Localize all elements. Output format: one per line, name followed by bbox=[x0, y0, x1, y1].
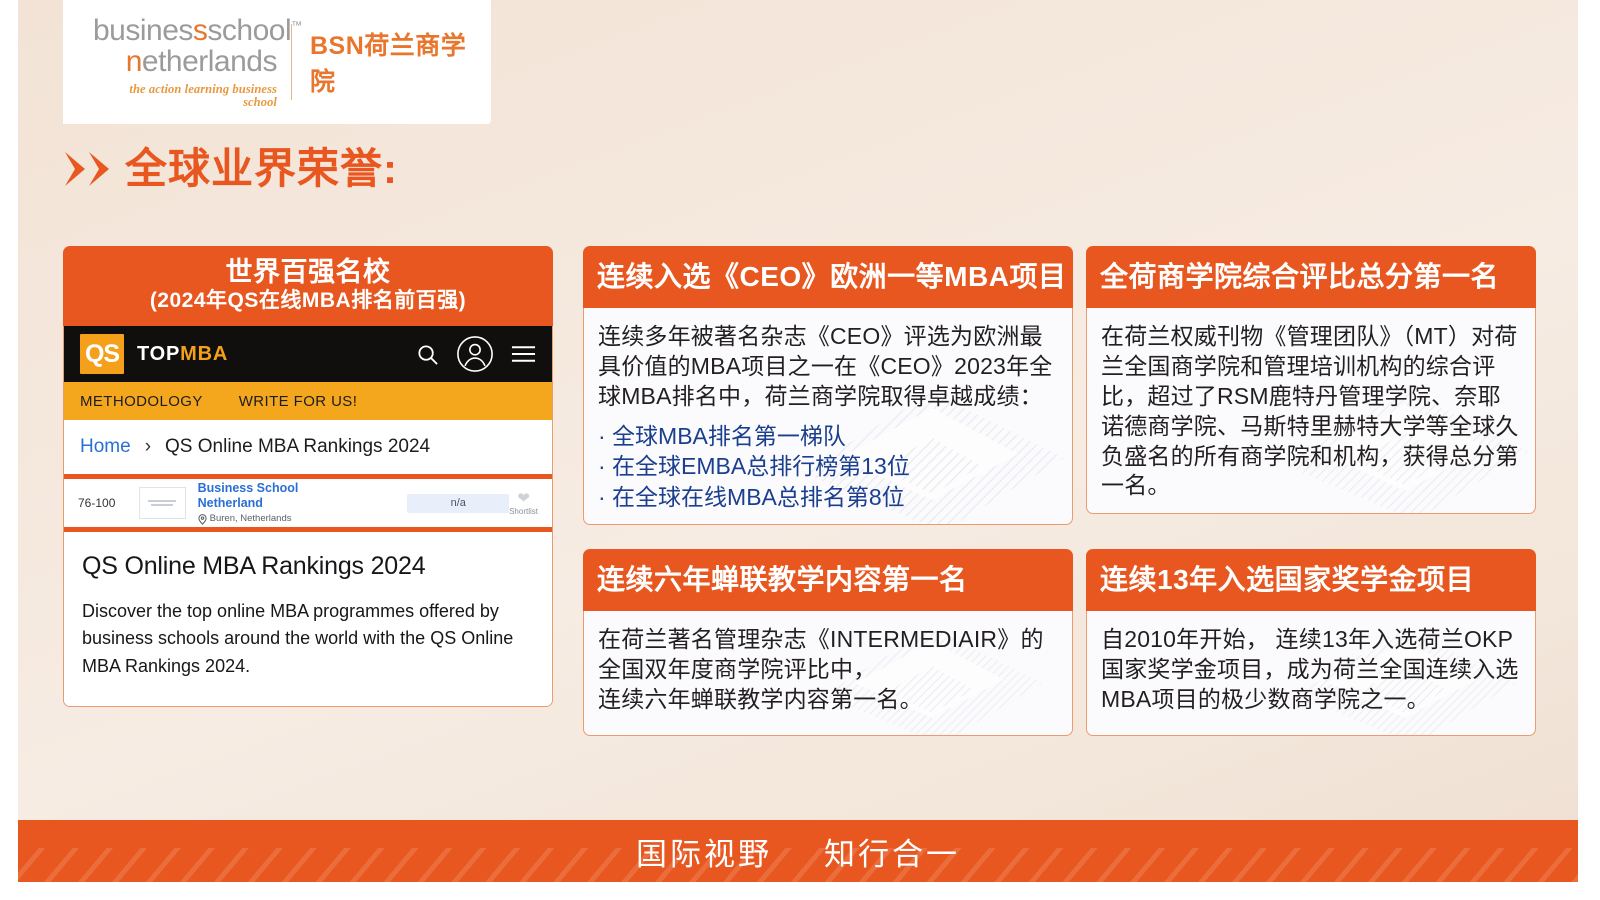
card-ceo-header: 连续入选《CEO》欧洲一等MBA项目 bbox=[583, 246, 1073, 308]
card-ceo-text: 连续多年被著名杂志《CEO》评选为欧洲最具价值的MBA项目之一在《CEO》202… bbox=[598, 322, 1058, 412]
shortlist-control[interactable]: ❤ Shortlist bbox=[509, 491, 538, 516]
university-logo-thumbnail bbox=[139, 487, 186, 519]
qs-wordmark: TOPMBA bbox=[137, 343, 228, 366]
score-value: n/a bbox=[407, 494, 509, 513]
card-ceo-award: 连续入选《CEO》欧洲一等MBA项目 连续多年被著名杂志《CEO》评选为欧洲最具… bbox=[583, 246, 1073, 525]
card-okp-title: 连续13年入选国家奖学金项目 bbox=[1100, 564, 1474, 596]
footer-slogan-1: 国际视野 bbox=[636, 829, 772, 874]
card-qs-title: 世界百强名校 bbox=[226, 257, 391, 288]
card-okp-body: 自2010年开始， 连续13年入选荷兰OKP国家奖学金项目，成为荷兰全国连续入选… bbox=[1086, 611, 1536, 736]
logo-text-busines: busines bbox=[93, 14, 193, 47]
card-qs-ranking: 世界百强名校 (2024年QS在线MBA排名前百强) QS TOPMBA bbox=[63, 246, 553, 707]
footer-slogan-2: 知行合一 bbox=[824, 829, 960, 874]
qs-nav-write-for-us[interactable]: WRITE FOR US! bbox=[239, 393, 358, 410]
qs-highlighted-ranking-row: 76-100 Business School Netherland Buren,… bbox=[64, 474, 552, 532]
card-qs-subtitle: (2024年QS在线MBA排名前百强) bbox=[150, 288, 466, 313]
breadcrumb: Home › QS Online MBA Rankings 2024 bbox=[64, 420, 552, 474]
qs-nav-methodology[interactable]: METHODOLOGY bbox=[80, 393, 203, 410]
card-mt-award: 全荷商学院综合评比总分第一名 在荷兰权威刊物《管理团队》（MT）对荷兰全国商学院… bbox=[1086, 246, 1536, 514]
card-okp-scholarship: 连续13年入选国家奖学金项目 自2010年开始， 连续13年入选荷兰OKP国家奖… bbox=[1086, 549, 1536, 736]
card-intermediair-body: 在荷兰著名管理杂志《INTERMEDIAIR》的全国双年度商学院评比中， 连续六… bbox=[583, 611, 1073, 736]
card-qs-header: 世界百强名校 (2024年QS在线MBA排名前百强) bbox=[63, 246, 553, 326]
logo-text-n-accent: n bbox=[126, 45, 142, 78]
slide-canvas: businessschool™ netherlands the action l… bbox=[18, 0, 1578, 882]
card-ceo-title: 连续入选《CEO》欧洲一等MBA项目 bbox=[597, 261, 1066, 293]
qs-website-screenshot: QS TOPMBA METHODOLOGY WRI bbox=[63, 326, 553, 707]
card-ceo-body: 连续多年被著名杂志《CEO》评选为欧洲最具价值的MBA项目之一在《CEO》202… bbox=[583, 308, 1073, 525]
card-intermediair-text: 在荷兰著名管理杂志《INTERMEDIAIR》的全国双年度商学院评比中， 连续六… bbox=[598, 625, 1058, 715]
card-mt-title: 全荷商学院综合评比总分第一名 bbox=[1100, 261, 1499, 293]
list-item: · 在全球EMBA总排行榜第13位 bbox=[598, 451, 1058, 482]
rank-value: 76-100 bbox=[78, 496, 139, 510]
card-ceo-bullet-list: · 全球MBA排名第一梯队 · 在全球EMBA总排行榜第13位 · 在全球在线M… bbox=[598, 421, 1058, 513]
qs-word-top: TOP bbox=[137, 343, 180, 365]
breadcrumb-current-page: QS Online MBA Rankings 2024 bbox=[165, 436, 430, 458]
breadcrumb-separator-icon: › bbox=[145, 436, 151, 458]
footer-slogan-bar: 国际视野 知行合一 bbox=[18, 820, 1578, 882]
qs-article-block: QS Online MBA Rankings 2024 Discover the… bbox=[64, 532, 552, 706]
university-name-link[interactable]: Business School Netherland bbox=[198, 481, 364, 512]
qs-word-mba: MBA bbox=[180, 343, 228, 365]
card-mt-body: 在荷兰权威刊物《管理团队》（MT）对荷兰全国商学院和管理培训机构的综合评比，超过… bbox=[1086, 308, 1536, 514]
map-pin-icon bbox=[198, 514, 207, 525]
logo-line-netherlands: netherlands bbox=[93, 47, 277, 77]
logo-wordmark: businessschool™ netherlands the action l… bbox=[63, 16, 277, 108]
university-cell: Business School Netherland Buren, Nether… bbox=[198, 481, 364, 525]
logo-divider bbox=[291, 24, 292, 100]
trademark-symbol: ™ bbox=[291, 20, 302, 32]
logo-line-businessschool: businessschool™ bbox=[93, 16, 277, 46]
footer-stripe-pattern bbox=[18, 848, 1578, 882]
logo-text-etherlands: etherlands bbox=[142, 45, 277, 78]
card-intermediair-title: 连续六年蝉联教学内容第一名 bbox=[597, 564, 968, 596]
card-intermediair-award: 连续六年蝉联教学内容第一名 在荷兰著名管理杂志《INTERMEDIAIR》的全国… bbox=[583, 549, 1073, 736]
article-title: QS Online MBA Rankings 2024 bbox=[82, 552, 534, 581]
double-chevron-right-icon bbox=[63, 148, 115, 190]
article-body: Discover the top online MBA programmes o… bbox=[82, 598, 534, 680]
table-row[interactable]: 76-100 Business School Netherland Buren,… bbox=[64, 479, 552, 527]
card-okp-header: 连续13年入选国家奖学金项目 bbox=[1086, 549, 1536, 611]
page-title-text: 全球业界荣誉: bbox=[125, 148, 398, 190]
university-location: Buren, Netherlands bbox=[198, 513, 364, 525]
logo-chinese-name: BSN荷兰商学院 bbox=[310, 26, 491, 98]
card-mt-text: 在荷兰权威刊物《管理团队》（MT）对荷兰全国商学院和管理培训机构的综合评比，超过… bbox=[1101, 322, 1521, 501]
logo-text-s-accent: s bbox=[193, 14, 208, 47]
qs-icon-group bbox=[416, 335, 536, 373]
card-intermediair-header: 连续六年蝉联教学内容第一名 bbox=[583, 549, 1073, 611]
heart-icon[interactable]: ❤ bbox=[517, 491, 530, 506]
card-mt-header: 全荷商学院综合评比总分第一名 bbox=[1086, 246, 1536, 308]
breadcrumb-home-link[interactable]: Home bbox=[80, 436, 131, 458]
hamburger-menu-icon[interactable] bbox=[511, 344, 536, 364]
card-okp-text: 自2010年开始， 连续13年入选荷兰OKP国家奖学金项目，成为荷兰全国连续入选… bbox=[1101, 625, 1521, 715]
brand-logo-panel: businessschool™ netherlands the action l… bbox=[63, 0, 491, 124]
university-location-text: Buren, Netherlands bbox=[210, 513, 292, 525]
shortlist-label: Shortlist bbox=[509, 507, 538, 516]
qs-logo-mark[interactable]: QS bbox=[80, 334, 124, 374]
qs-secondary-nav: METHODOLOGY WRITE FOR US! bbox=[64, 382, 552, 420]
user-account-icon[interactable] bbox=[456, 335, 494, 373]
search-icon[interactable] bbox=[416, 343, 439, 366]
list-item: · 全球MBA排名第一梯队 bbox=[598, 421, 1058, 452]
logo-text-school: school bbox=[207, 14, 291, 47]
list-item: · 在全球在线MBA总排名第8位 bbox=[598, 482, 1058, 513]
page-title: 全球业界荣誉: bbox=[63, 148, 398, 190]
logo-tagline: the action learning business school bbox=[93, 83, 277, 108]
qs-top-navigation-bar: QS TOPMBA bbox=[64, 326, 552, 382]
